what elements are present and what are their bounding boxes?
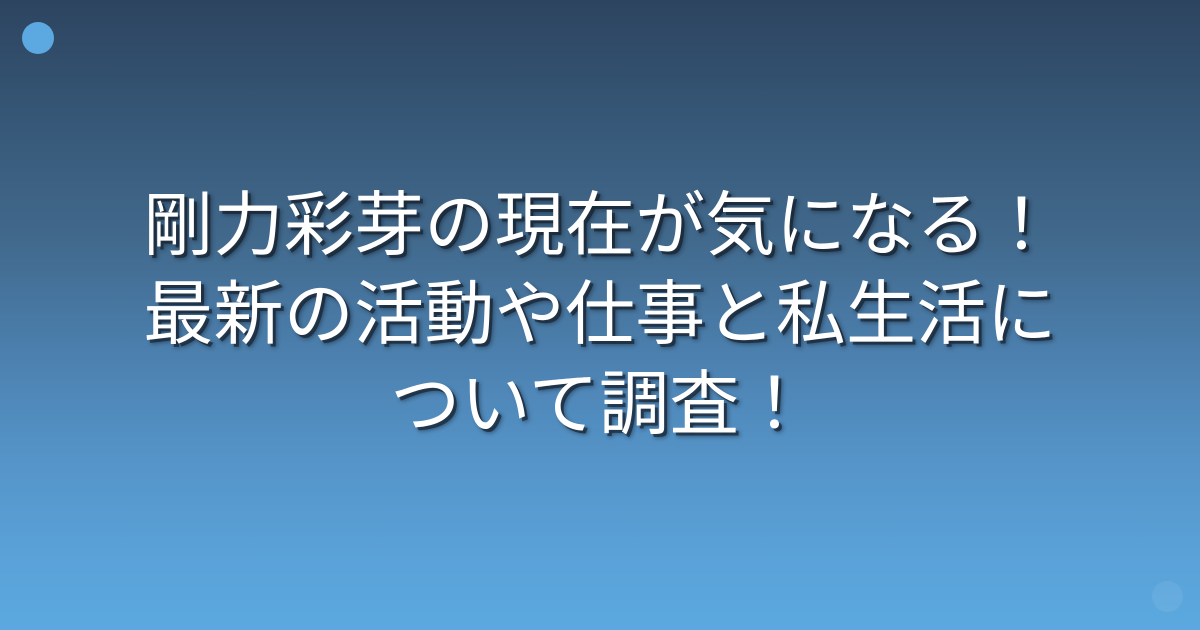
title-container: 剛力彩芽の現在が気になる！最新の活動や仕事と私生活について調査！ [0, 0, 1200, 630]
page-title: 剛力彩芽の現在が気になる！最新の活動や仕事と私生活について調査！ [135, 181, 1065, 450]
og-card: 剛力彩芽の現在が気になる！最新の活動や仕事と私生活について調査！ [0, 0, 1200, 630]
